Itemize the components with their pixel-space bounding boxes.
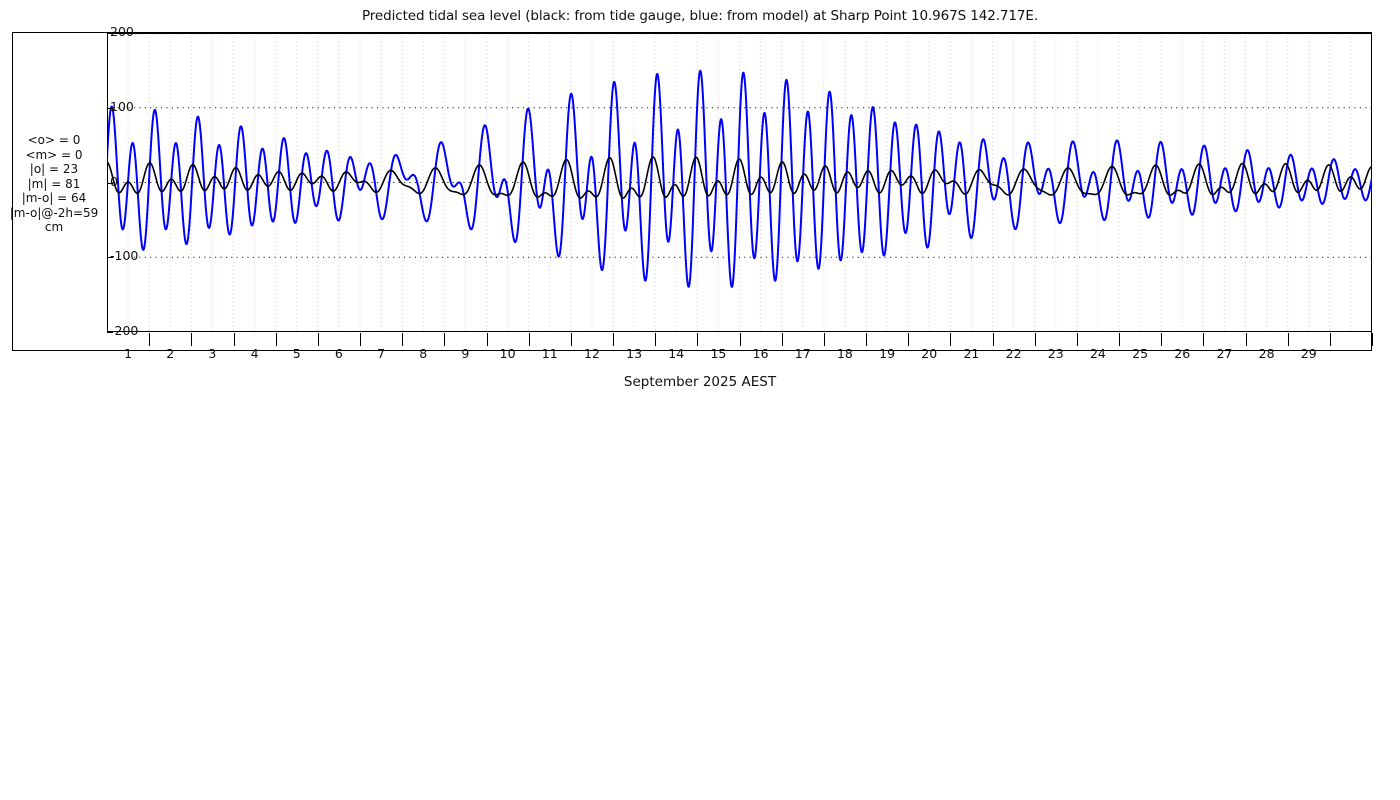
- x-axis-label: 23: [1036, 348, 1076, 361]
- x-axis-tick: [318, 333, 319, 346]
- x-axis-label: 10: [488, 348, 528, 361]
- x-axis-label: 13: [614, 348, 654, 361]
- x-axis-label: 12: [572, 348, 612, 361]
- x-axis-tick: [993, 333, 994, 346]
- x-axis-label: 15: [698, 348, 738, 361]
- x-axis-tick: [571, 333, 572, 346]
- y-axis-label: 0: [110, 176, 118, 189]
- x-axis-tick: [1330, 333, 1331, 346]
- x-axis-tick: [191, 333, 192, 346]
- x-axis-tick: [1119, 333, 1120, 346]
- x-axis-tick: [1246, 333, 1247, 346]
- x-axis-tick: [613, 333, 614, 346]
- x-axis-label: 6: [319, 348, 359, 361]
- x-axis-label: 22: [994, 348, 1034, 361]
- x-axis-tick: [360, 333, 361, 346]
- x-axis-label: 4: [235, 348, 275, 361]
- x-axis-tick: [402, 333, 403, 346]
- x-axis-tick: [866, 333, 867, 346]
- stat-abs-model: |m| = 81: [4, 177, 104, 192]
- y-axis-label: 200: [110, 26, 134, 39]
- x-axis-title: September 2025 AEST: [0, 374, 1400, 390]
- x-axis-label: 16: [741, 348, 781, 361]
- tide-series-plot: [107, 33, 1372, 332]
- x-axis-tick: [1288, 333, 1289, 346]
- x-axis-label: 27: [1204, 348, 1244, 361]
- y-axis-label: -100: [110, 250, 138, 263]
- x-axis-tick: [1372, 333, 1373, 346]
- y-axis-label: -200: [110, 325, 138, 338]
- x-axis-tick: [149, 333, 150, 346]
- x-axis-tick: [1077, 333, 1078, 346]
- copyright-wrap: © IMOS 14-Jun-2025 05:00:28. *Not for na…: [1378, 4, 1396, 398]
- x-axis-tick: [824, 333, 825, 346]
- stat-mean-obs: <o> = 0: [4, 133, 104, 148]
- x-axis-label: 14: [656, 348, 696, 361]
- stat-abs-diff: |m-o| = 64: [4, 191, 104, 206]
- x-axis-label: 24: [1078, 348, 1118, 361]
- x-axis-label: 7: [361, 348, 401, 361]
- plot-area: [107, 33, 1372, 332]
- x-axis-label: 17: [783, 348, 823, 361]
- x-axis-label: 11: [530, 348, 570, 361]
- stat-abs-diff-lag: |m-o|@-2h=59: [4, 206, 104, 221]
- statistics-panel: <o> = 0 <m> = 0 |o| = 23 |m| = 81 |m-o| …: [4, 133, 104, 235]
- x-axis-label: 26: [1162, 348, 1202, 361]
- y-axis-label: 100: [110, 101, 134, 114]
- x-axis-label: 21: [951, 348, 991, 361]
- x-axis-label: 29: [1289, 348, 1329, 361]
- x-axis-tick: [1203, 333, 1204, 346]
- stat-mean-model: <m> = 0: [4, 148, 104, 163]
- x-axis-label: 9: [445, 348, 485, 361]
- x-axis-label: 19: [867, 348, 907, 361]
- x-axis-label: 3: [192, 348, 232, 361]
- x-axis-tick: [1035, 333, 1036, 346]
- x-axis-label: 28: [1247, 348, 1287, 361]
- x-axis-tick: [697, 333, 698, 346]
- page-title: Predicted tidal sea level (black: from t…: [0, 8, 1400, 24]
- x-axis-tick: [950, 333, 951, 346]
- x-axis-label: 5: [277, 348, 317, 361]
- stat-abs-obs: |o| = 23: [4, 162, 104, 177]
- x-axis-tick: [487, 333, 488, 346]
- x-axis-label: 1: [108, 348, 148, 361]
- x-axis-tick: [908, 333, 909, 346]
- x-axis-label: 20: [909, 348, 949, 361]
- x-axis-label: 2: [150, 348, 190, 361]
- chart-page: Predicted tidal sea level (black: from t…: [0, 0, 1400, 400]
- x-axis-tick: [276, 333, 277, 346]
- x-axis-tick: [740, 333, 741, 346]
- x-axis-label: 18: [825, 348, 865, 361]
- x-axis-tick: [782, 333, 783, 346]
- x-axis-tick: [529, 333, 530, 346]
- x-axis-tick: [1161, 333, 1162, 346]
- x-axis-tick: [444, 333, 445, 346]
- x-axis-tick: [234, 333, 235, 346]
- x-axis-tick: [655, 333, 656, 346]
- x-axis-label: 25: [1120, 348, 1160, 361]
- x-axis-label: 8: [403, 348, 443, 361]
- stat-units: cm: [4, 220, 104, 235]
